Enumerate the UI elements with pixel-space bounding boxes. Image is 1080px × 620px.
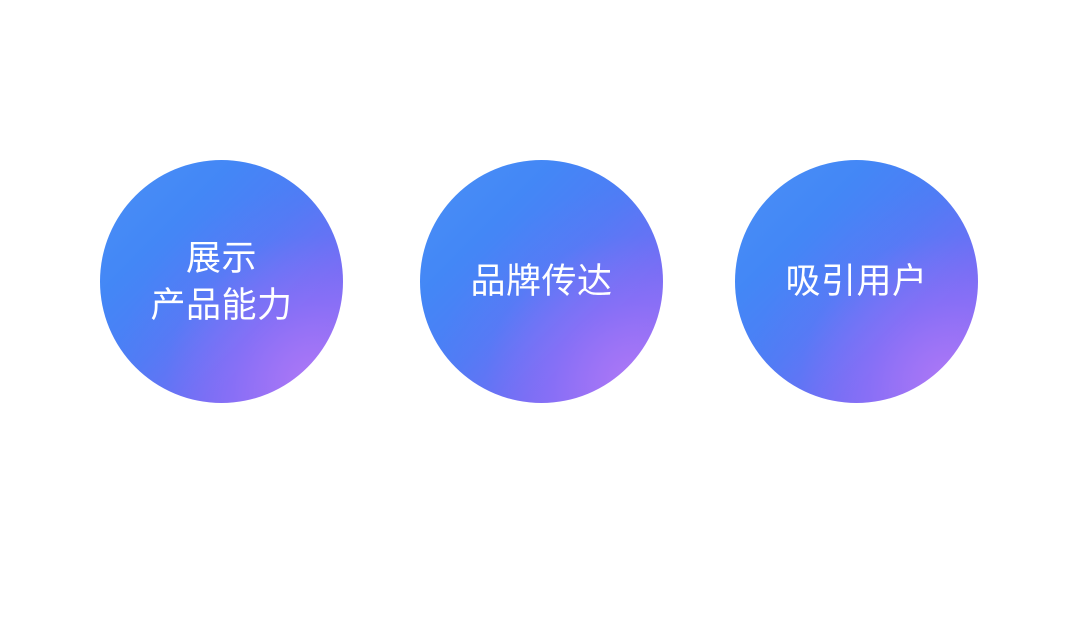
bubble-attract-users[interactable]: 吸引用户 — [735, 160, 978, 403]
infographic-canvas: 展示 产品能力 品牌传达 吸引用户 — [0, 0, 1080, 620]
bubble-show-product-capability[interactable]: 展示 产品能力 — [100, 160, 343, 403]
bubble-brand-communication[interactable]: 品牌传达 — [420, 160, 663, 403]
bubble-group: 展示 产品能力 品牌传达 吸引用户 — [0, 160, 1080, 404]
bubble-label-show-product-capability: 展示 产品能力 — [150, 235, 292, 329]
bubble-label-brand-communication: 品牌传达 — [470, 258, 612, 305]
bubble-label-attract-users: 吸引用户 — [785, 258, 927, 305]
